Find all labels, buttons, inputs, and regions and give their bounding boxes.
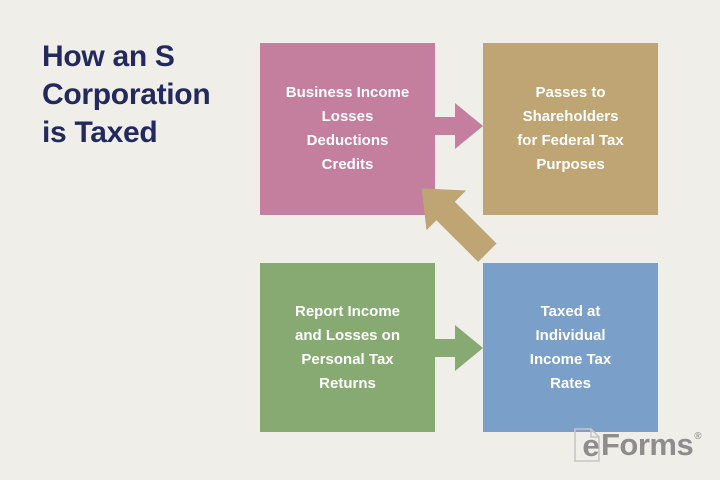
box-line: Business Income [286,84,409,101]
box-line: Report Income [295,303,400,320]
box-line: and Losses on [295,327,400,344]
infographic-canvas: How an S Corporation is Taxed Business I… [0,0,720,480]
eforms-logo-e: e [578,429,604,463]
eforms-logo-forms: Forms [601,428,693,462]
arrow-down-left-icon-passes-to-report [398,185,513,255]
box-line: Income Tax [530,351,611,368]
box-line: Returns [319,375,376,392]
arrow-right-icon-report-to-rates [425,322,485,374]
flow-box-report-income: Report Income and Losses on Personal Tax… [260,263,435,432]
flow-box-taxed-at-rates-text: Taxed at Individual Income Tax Rates [495,300,646,396]
flow-box-business-income-text: Business Income Losses Deductions Credit… [272,81,423,177]
document-page-icon: e [574,428,600,462]
box-line: Passes to [535,84,605,101]
box-line: Individual [535,327,605,344]
flow-box-report-income-text: Report Income and Losses on Personal Tax… [272,300,423,396]
box-line: Losses [322,108,374,125]
arrow-right-icon-income-to-passes [425,100,485,152]
box-line: Personal Tax [301,351,393,368]
box-line: Shareholders [523,108,619,125]
flow-box-passes-to-shareholders-text: Passes to Shareholders for Federal Tax P… [495,81,646,177]
box-line: for Federal Tax [517,132,623,149]
page-title-line-1: How an S [42,38,252,76]
box-line: Taxed at [541,303,601,320]
box-line: Purposes [536,156,604,173]
box-line: Deductions [307,132,389,149]
flow-box-taxed-at-rates: Taxed at Individual Income Tax Rates [483,263,658,432]
page-title-line-2: Corporation [42,76,252,114]
page-title-line-3: is Taxed [42,114,252,152]
box-line: Rates [550,375,591,392]
box-line: Credits [322,156,374,173]
eforms-logo: e Forms ® [574,428,702,462]
page-title: How an S Corporation is Taxed [42,38,252,152]
registered-trademark-icon: ® [694,431,701,442]
